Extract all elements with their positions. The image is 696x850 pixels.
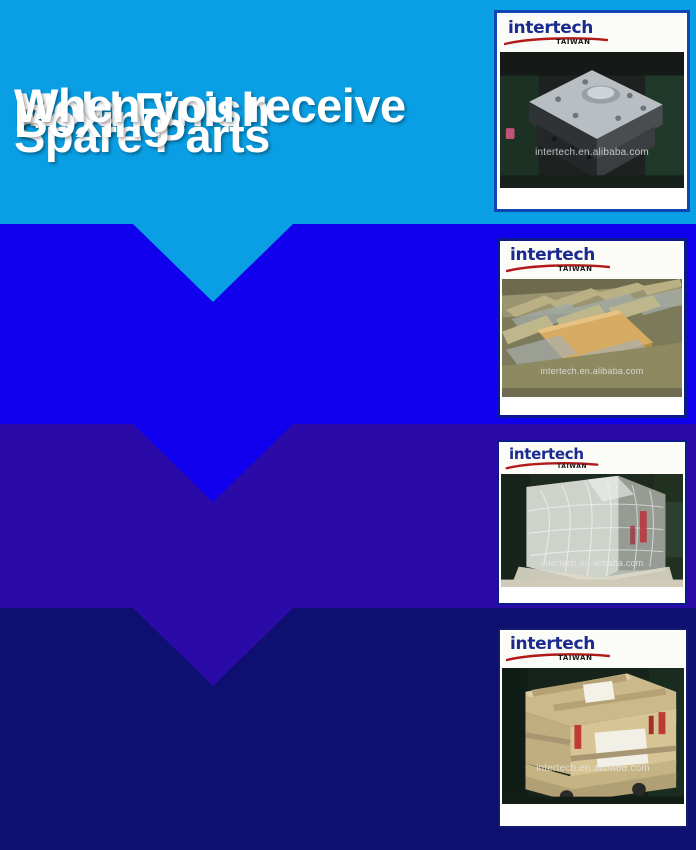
photo-card-boxing: intertech TAIWAN <box>497 440 687 605</box>
intertech-logo: intertech TAIWAN <box>501 444 683 474</box>
chevron-notch-icon <box>133 608 293 686</box>
photo-footer <box>502 804 684 824</box>
logo-subtext: TAIWAN <box>558 265 593 273</box>
logo-wordmark: intertech <box>510 246 682 264</box>
slide-canvas: Mold Finish Spare Parts Boxing When you … <box>0 0 696 850</box>
chevron-notch-icon <box>133 424 293 502</box>
photo-artwork <box>500 52 684 188</box>
photo-footer <box>500 188 684 206</box>
photo-artwork <box>502 279 682 397</box>
photo-when-you-receive: intertech.en.alibaba.com <box>502 668 684 804</box>
photo-artwork <box>501 474 683 587</box>
logo-subtext: TAIWAN <box>556 38 591 46</box>
photo-artwork <box>502 668 684 804</box>
chevron-notch-icon <box>133 224 293 302</box>
photo-card-spare-parts: intertech TAIWAN <box>497 238 687 418</box>
logo-subtext: TAIWAN <box>557 463 587 470</box>
photo-mold-finish: intertech.en.alibaba.com <box>500 52 684 188</box>
photo-card-when-you-receive: intertech TAIWAN <box>498 628 688 828</box>
photo-card-inner: intertech TAIWAN <box>502 243 682 413</box>
photo-footer <box>502 397 682 413</box>
logo-wordmark: intertech <box>509 446 683 462</box>
photo-card-mold-finish: intertech TAIWAN <box>494 10 690 212</box>
intertech-logo: intertech TAIWAN <box>502 243 682 279</box>
logo-subtext: TAIWAN <box>558 654 593 662</box>
photo-boxing: intertech.en.alibaba.com <box>501 474 683 587</box>
logo-wordmark: intertech <box>510 635 684 653</box>
band-label-when-you-receive: When you receive <box>14 82 406 129</box>
photo-footer <box>501 587 683 601</box>
photo-card-inner: intertech TAIWAN <box>501 444 683 601</box>
logo-wordmark: intertech <box>508 19 684 37</box>
photo-card-inner: intertech TAIWAN <box>500 16 684 206</box>
photo-spare-parts: intertech.en.alibaba.com <box>502 279 682 397</box>
intertech-logo: intertech TAIWAN <box>500 16 684 52</box>
photo-card-inner: intertech TAIWAN <box>502 632 684 824</box>
intertech-logo: intertech TAIWAN <box>502 632 684 668</box>
